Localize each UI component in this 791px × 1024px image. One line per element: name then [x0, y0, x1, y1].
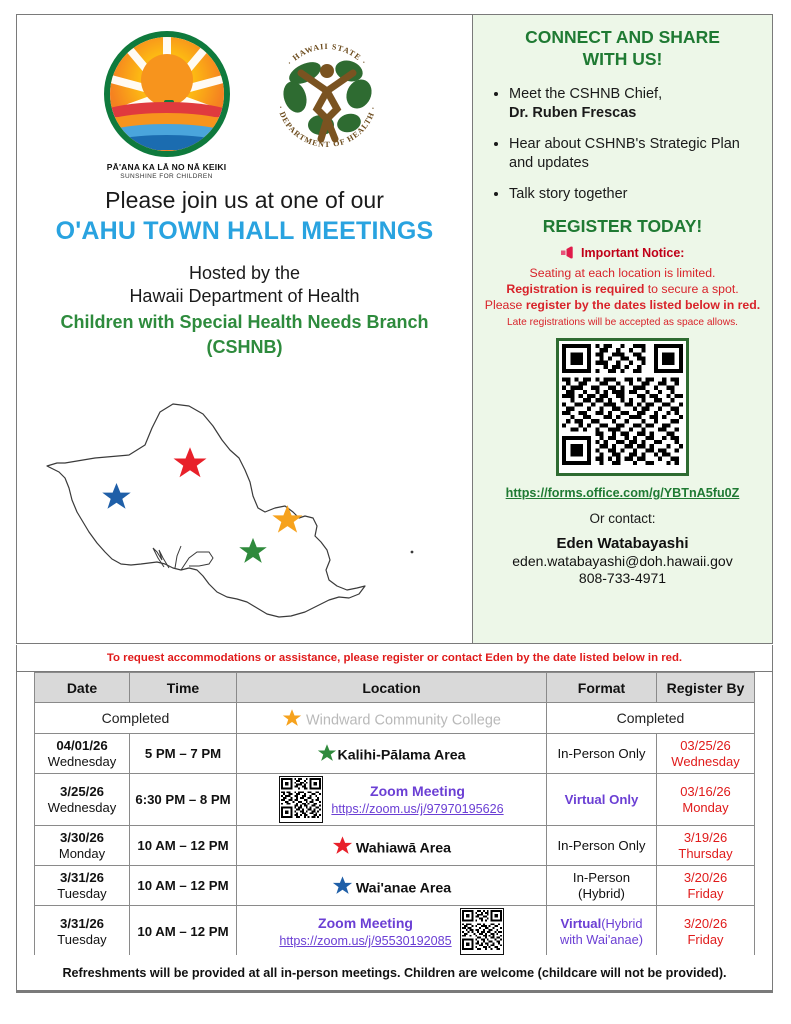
cell-format-completed: Completed [547, 703, 755, 734]
cell-location: Kalihi-Pālama Area [237, 734, 547, 774]
footer-text: Refreshments will be provided at all in-… [62, 966, 726, 980]
table-header-row: Date Time Location Format Register By [35, 673, 755, 703]
flyer-top-section: PĀ'ANA KA LĀ NO NĀ KEIKI SUNSHINE FOR CH… [16, 14, 773, 644]
cell-date: 3/31/26 Tuesday [35, 866, 130, 906]
col-header-location: Location [237, 673, 547, 703]
col-header-format: Format [547, 673, 657, 703]
cell-time: 10 AM – 12 PM [130, 826, 237, 866]
contact-name: Eden Watabayashi [483, 535, 762, 552]
cell-time: 6:30 PM – 8 PM [130, 774, 237, 826]
left-column: PĀ'ANA KA LĀ NO NĀ KEIKI SUNSHINE FOR CH… [17, 15, 472, 643]
table-row: 3/31/26 Tuesday 10 AM – 12 PM Zoom Meeti… [35, 906, 755, 958]
oahu-island-map [17, 400, 472, 645]
logo-row: PĀ'ANA KA LĀ NO NĀ KEIKI SUNSHINE FOR CH… [17, 15, 472, 180]
panel-title-line1: CONNECT AND SHARE [483, 27, 762, 49]
footer-bar: Refreshments will be provided at all in-… [16, 955, 773, 993]
cell-format: In-Person Only [547, 826, 657, 866]
register-today-heading: REGISTER TODAY! [483, 216, 762, 237]
zoom-meeting-label: Zoom Meeting [331, 783, 503, 799]
notice-line2-rest: to secure a spot. [644, 282, 738, 296]
cell-register-by: 3/20/26 Friday [657, 906, 755, 958]
important-notice-heading: Important Notice: [483, 246, 762, 262]
map-star-waianae [101, 481, 132, 512]
cell-register-by: 3/20/26 Friday [657, 866, 755, 906]
cell-time: 10 AM – 12 PM [130, 906, 237, 958]
bullet-bold-text: Dr. Ruben Frescas [509, 105, 636, 121]
cell-format: In-Person Only [547, 734, 657, 774]
list-item: Talk story together [509, 185, 758, 205]
cell-date: 3/30/26 Monday [35, 826, 130, 866]
table-row: 3/25/26 Wednesday 6:30 PM – 8 PM [35, 774, 755, 826]
cell-location: Wai'anae Area [237, 866, 547, 906]
hosted-by-line2: Hawaii Department of Health [31, 285, 458, 308]
cell-time: 5 PM – 7 PM [130, 734, 237, 774]
sunshine-for-children-icon [104, 31, 230, 157]
bullet-text: Meet the CSHNB Chief, [509, 86, 662, 102]
cell-format: In-Person (Hybrid) [547, 866, 657, 906]
col-header-register-by: Register By [657, 673, 755, 703]
cell-register-by: 03/25/26 Wednesday [657, 734, 755, 774]
flyer-page: PĀ'ANA KA LĀ NO NĀ KEIKI SUNSHINE FOR CH… [0, 0, 791, 1024]
branch-name-line2: (CSHNB) [31, 336, 458, 359]
cshnb-logo: PĀ'ANA KA LĀ NO NĀ KEIKI SUNSHINE FOR CH… [97, 31, 237, 180]
headline-title: O'AHU TOWN HALL MEETINGS [31, 217, 458, 246]
cell-date-completed: Completed [35, 703, 237, 734]
cell-date: 3/31/26 Tuesday [35, 906, 130, 958]
notice-body: Seating at each location is limited. Reg… [483, 265, 762, 314]
headline-line1: Please join us at one of our [31, 186, 458, 215]
panel-bullet-list: Meet the CSHNB Chief, Dr. Ruben Frescas … [483, 85, 762, 205]
cshnb-logo-subcaption: SUNSHINE FOR CHILDREN [97, 173, 237, 180]
or-contact-label: Or contact: [483, 511, 762, 526]
schedule-table-wrapper: Date Time Location Format Register By Co… [16, 672, 773, 955]
hosted-by-line1: Hosted by the [31, 262, 458, 285]
zoom-meeting-label: Zoom Meeting [279, 915, 451, 931]
cell-location-zoom: Zoom Meeting https://zoom.us/j/979701956… [237, 774, 547, 826]
registration-form-link[interactable]: https://forms.office.com/g/YBTnA5fu0Z [483, 486, 762, 500]
list-item: Meet the CSHNB Chief, Dr. Ruben Frescas [509, 85, 758, 124]
col-header-date: Date [35, 673, 130, 703]
notice-line3-pre: Please [485, 298, 526, 312]
megaphone-icon [561, 246, 575, 262]
cell-location-windward: Windward Community College [237, 703, 547, 734]
map-star-kalihi-palama [238, 536, 268, 566]
important-notice-label: Important Notice: [581, 246, 684, 260]
cshnb-logo-caption: PĀ'ANA KA LĀ NO NĀ KEIKI [97, 162, 237, 172]
notice-line3-bold: register by the dates listed below in re… [526, 298, 760, 312]
zoom-qr-code-1[interactable] [279, 776, 323, 823]
cell-register-by: 3/19/26 Thursday [657, 826, 755, 866]
table-row: Completed Windward Community College Com… [35, 703, 755, 734]
table-row: 3/31/26 Tuesday 10 AM – 12 PM Wai'anae A… [35, 866, 755, 906]
cell-date: 3/25/26 Wednesday [35, 774, 130, 826]
zoom-qr-code-2[interactable] [460, 908, 504, 955]
table-row: 04/01/26 Wednesday 5 PM – 7 PM Kalihi-Pā… [35, 734, 755, 774]
headline-block: Please join us at one of our O'AHU TOWN … [17, 186, 472, 359]
map-star-wahiawa [172, 445, 208, 481]
doh-seal-icon: · HAWAII STATE · · DEPARTMENT OF HEALTH … [261, 31, 393, 163]
contact-phone[interactable]: 808-733-4971 [483, 570, 762, 586]
zoom-meeting-link[interactable]: https://zoom.us/j/97970195626 [331, 802, 503, 816]
accommodations-notice-text: To request accommodations or assistance,… [107, 652, 682, 664]
list-item: Hear about CSHNB's Strategic Plan and up… [509, 135, 758, 174]
accommodations-notice-bar: To request accommodations or assistance,… [16, 645, 773, 672]
cell-register-by: 03/16/26 Monday [657, 774, 755, 826]
col-header-time: Time [130, 673, 237, 703]
registration-qr-wrapper [483, 338, 762, 476]
cell-location-zoom: Zoom Meeting https://zoom.us/j/955301920… [237, 906, 547, 958]
notice-line2-bold: Registration is required [506, 282, 644, 296]
notice-line1: Seating at each location is limited. [530, 266, 716, 280]
cell-time: 10 AM – 12 PM [130, 866, 237, 906]
star-icon-green [317, 743, 337, 763]
cell-format: Virtual Only [547, 774, 657, 826]
notice-small-print: Late registrations will be accepted as s… [483, 317, 762, 328]
map-star-windward [271, 503, 304, 536]
cell-date: 04/01/26 Wednesday [35, 734, 130, 774]
table-row: 3/30/26 Monday 10 AM – 12 PM Wahiawā Are… [35, 826, 755, 866]
schedule-table: Date Time Location Format Register By Co… [34, 672, 755, 958]
star-icon-red [332, 835, 353, 856]
star-icon-blue [332, 875, 353, 896]
star-icon-orange [282, 708, 302, 728]
panel-title-line2: WITH US! [483, 49, 762, 71]
zoom-meeting-link[interactable]: https://zoom.us/j/95530192085 [279, 934, 451, 948]
cell-format: Virtual(Hybrid with Wai'anae) [547, 906, 657, 958]
registration-qr-code[interactable] [556, 338, 689, 476]
contact-email[interactable]: eden.watabayashi@doh.hawaii.gov [483, 553, 762, 569]
branch-name-line1: Children with Special Health Needs Branc… [31, 311, 458, 334]
connect-and-share-panel: CONNECT AND SHARE WITH US! Meet the CSHN… [472, 15, 772, 643]
cell-location: Wahiawā Area [237, 826, 547, 866]
